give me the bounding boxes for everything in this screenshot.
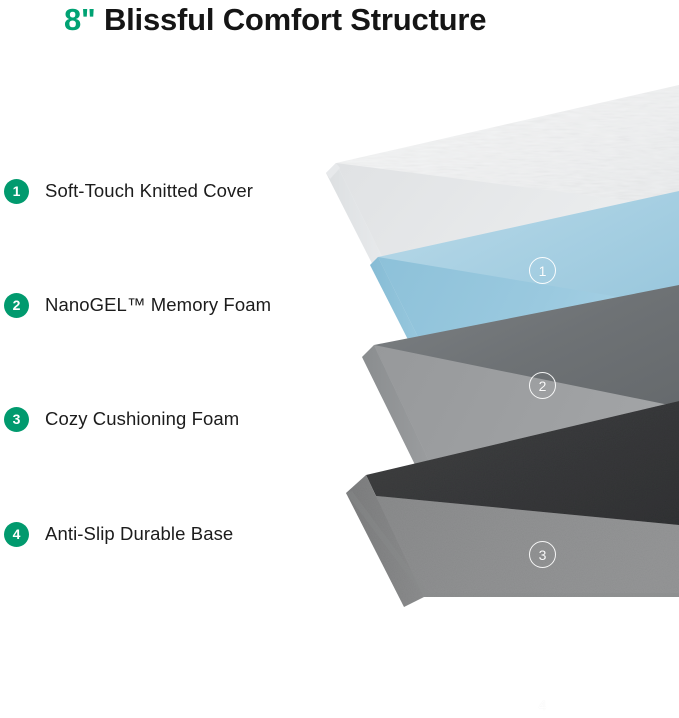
diagram-badge-3: 3 bbox=[529, 541, 556, 568]
page-title: 8" Blissful Comfort Structure bbox=[64, 2, 486, 38]
legend-item-anti-slip-durable-base: 4 Anti-Slip Durable Base bbox=[4, 519, 233, 549]
legend-badge-4: 4 bbox=[4, 522, 29, 547]
layer-stack-illustration bbox=[300, 95, 679, 670]
legend-item-nanogel-memory-foam: 2 NanoGEL™ Memory Foam bbox=[4, 290, 271, 320]
diagram-badge-2: 2 bbox=[529, 372, 556, 399]
title-thickness: 8" bbox=[64, 2, 96, 37]
legend-badge-3: 3 bbox=[4, 407, 29, 432]
legend-label-3: Cozy Cushioning Foam bbox=[45, 408, 239, 430]
legend-label-1: Soft-Touch Knitted Cover bbox=[45, 180, 253, 202]
legend-label-4: Anti-Slip Durable Base bbox=[45, 523, 233, 545]
legend-badge-1: 1 bbox=[4, 179, 29, 204]
diagram-badge-1: 1 bbox=[529, 257, 556, 284]
legend-badge-2: 2 bbox=[4, 293, 29, 318]
legend-item-cozy-cushioning-foam: 3 Cozy Cushioning Foam bbox=[4, 404, 239, 434]
title-rest: Blissful Comfort Structure bbox=[96, 2, 487, 37]
legend-label-2: NanoGEL™ Memory Foam bbox=[45, 294, 271, 316]
mattress-layer-diagram: 1 2 3 4 bbox=[300, 95, 679, 670]
diagram-badge-4: 4 bbox=[529, 691, 556, 718]
legend-item-soft-touch-knitted-cover: 1 Soft-Touch Knitted Cover bbox=[4, 176, 253, 206]
